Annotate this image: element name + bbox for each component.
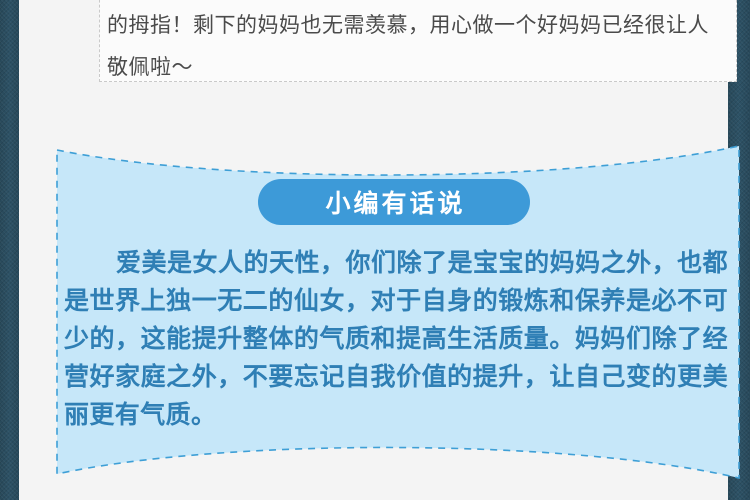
- editor-note-heading-pill: 小编有话说: [258, 179, 530, 225]
- left-decorative-strip: [0, 0, 19, 500]
- editor-note-panel: 小编有话说 爱美是女人的天性，你们除了是宝宝的妈妈之外，也都是世界上独一无二的仙…: [55, 126, 741, 500]
- editor-note-body-text: 爱美是女人的天性，你们除了是宝宝的妈妈之外，也都是世界上独一无二的仙女，对于自身…: [64, 244, 728, 434]
- page-root: 的拇指！剩下的妈妈也无需羡慕，用心做一个好妈妈已经很让人敬佩啦～ 小编有话说 爱…: [0, 0, 750, 500]
- editor-note-heading-label: 小编有话说: [322, 184, 465, 220]
- quote-box-text: 的拇指！剩下的妈妈也无需羡慕，用心做一个好妈妈已经很让人敬佩啦～: [107, 4, 715, 88]
- page-content-column: 的拇指！剩下的妈妈也无需羡慕，用心做一个好妈妈已经很让人敬佩啦～ 小编有话说 爱…: [19, 0, 728, 500]
